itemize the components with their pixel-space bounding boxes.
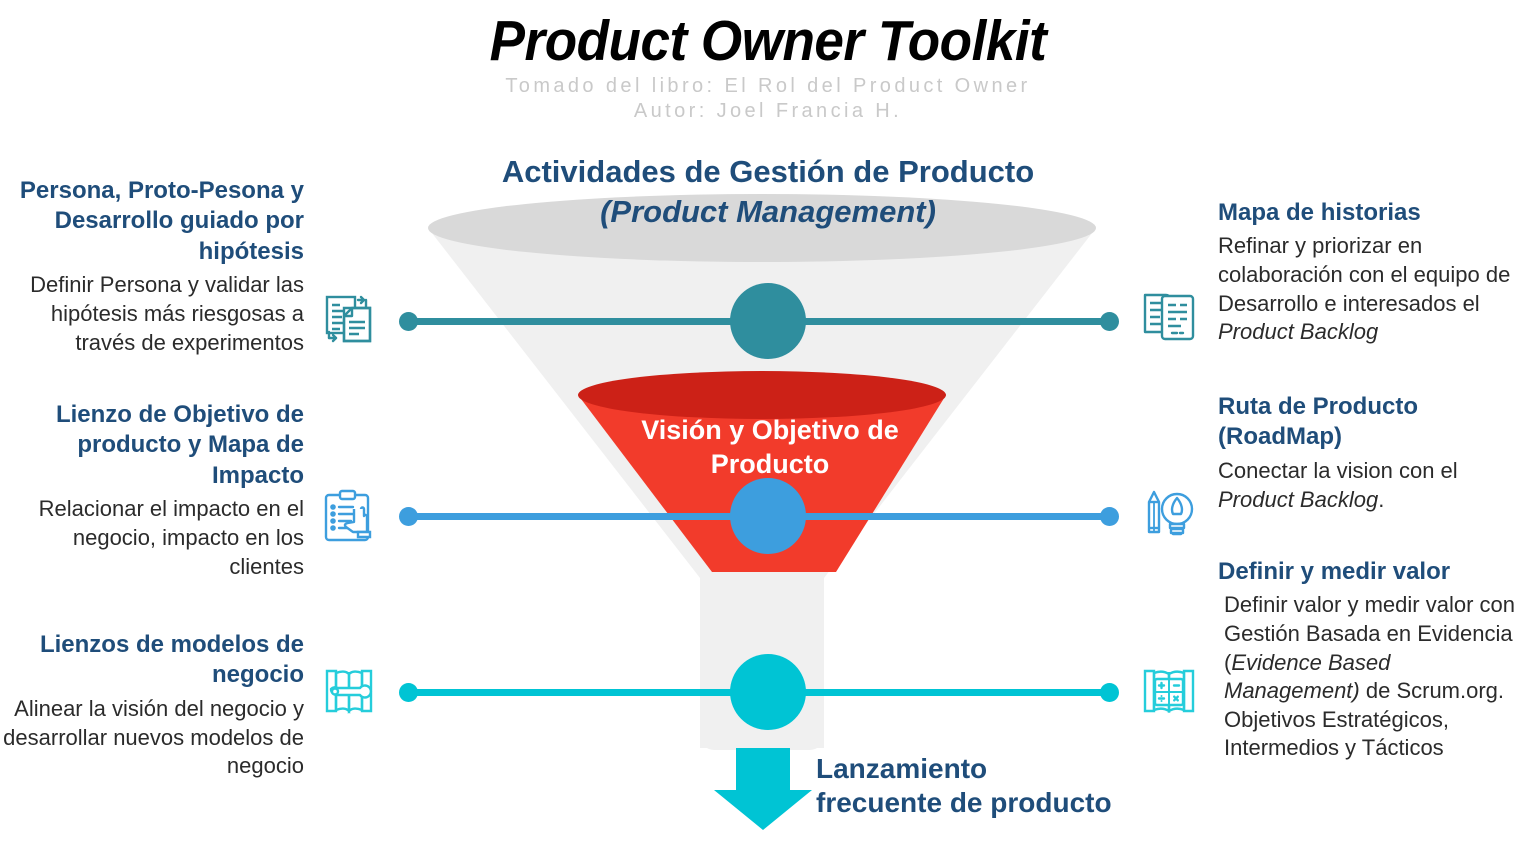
connector-dot-left-3[interactable] <box>399 683 418 702</box>
launch-arrow-icon <box>714 748 812 830</box>
connector-dot-right-2[interactable] <box>1100 507 1119 526</box>
section-heading: Actividades de Gestión de Producto (Prod… <box>380 152 1156 231</box>
funnel-core-label: Visión y Objetivo de Producto <box>585 414 955 482</box>
launch-label-line-2: frecuente de producto <box>816 786 1216 820</box>
funnel-core-label-line-2: Producto <box>585 448 955 482</box>
book-wrench-icon <box>318 660 380 722</box>
funnel-hub-3[interactable] <box>730 654 806 730</box>
connector-line-right-3 <box>768 689 1113 696</box>
infographic-canvas: Product Owner Toolkit Tomado del libro: … <box>0 0 1536 837</box>
launch-label-line-1: Lanzamiento <box>816 752 1216 786</box>
section-heading-line-1: Actividades de Gestión de Producto <box>380 152 1156 192</box>
connector-line-right-2 <box>768 513 1113 520</box>
funnel-hub-1[interactable] <box>730 283 806 359</box>
connector-line-right-1 <box>768 318 1113 325</box>
pencil-bulb-icon <box>1138 483 1200 545</box>
inner-funnel-rim <box>578 371 946 419</box>
connector-dot-right-3[interactable] <box>1100 683 1119 702</box>
documents-sync-icon <box>318 288 380 350</box>
funnel-hub-2[interactable] <box>730 478 806 554</box>
book-calculator-icon <box>1138 660 1200 722</box>
connector-line-left-3 <box>405 689 735 696</box>
funnel-core-label-line-1: Visión y Objetivo de <box>585 414 955 448</box>
launch-label: Lanzamiento frecuente de producto <box>816 752 1216 820</box>
connector-dot-right-1[interactable] <box>1100 312 1119 331</box>
clipboard-hand-icon <box>318 487 380 549</box>
connector-dot-left-1[interactable] <box>399 312 418 331</box>
connector-line-left-2 <box>405 513 735 520</box>
connector-line-left-1 <box>405 318 735 325</box>
section-heading-line-2: (Product Management) <box>380 192 1156 232</box>
connector-dot-left-2[interactable] <box>399 507 418 526</box>
document-tablet-icon <box>1138 286 1200 348</box>
